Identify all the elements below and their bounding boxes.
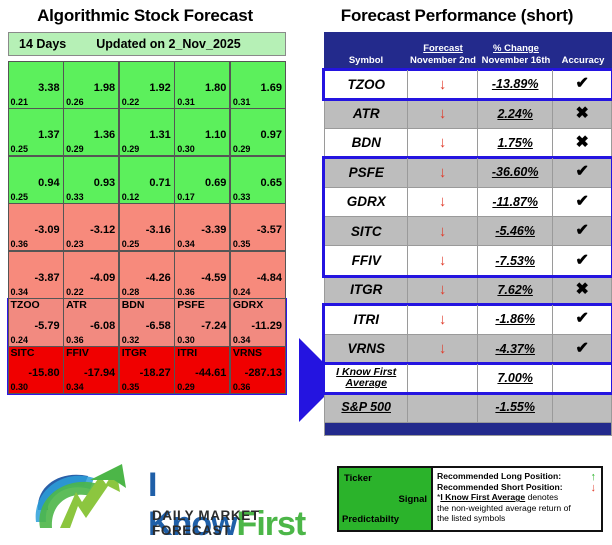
heatmap-cell: 1.690.31 <box>230 61 286 109</box>
cell-accuracy: ✔ <box>553 246 611 274</box>
cell-signal-value: 1.31 <box>149 129 170 141</box>
table-row: PSFE↓-36.60%✔ <box>324 158 612 187</box>
cell-forecast: ↓ <box>408 217 478 245</box>
cell-change: -1.55% <box>478 393 553 421</box>
cell-signal-value: -3.39 <box>201 224 226 236</box>
heatmap-cell: 1.100.30 <box>174 108 230 156</box>
cell-signal-value: 3.38 <box>38 82 59 94</box>
heatmap-cell-itri: ITRI-44.610.29 <box>174 346 230 394</box>
cell-predictability-value: 0.23 <box>66 239 84 250</box>
cell-ticker-label: VRNS <box>233 347 262 359</box>
cell-signal-value: -4.59 <box>201 272 226 284</box>
cell-symbol: VRNS <box>325 335 408 363</box>
cell-ticker-label: PSFE <box>177 299 204 311</box>
column-header-symbol: Symbol <box>324 32 408 70</box>
legend-note-line2: the non-weighted average return of <box>437 503 597 514</box>
cell-signal-value: 0.94 <box>38 177 59 189</box>
cell-predictability-value: 0.30 <box>177 144 195 155</box>
highlight-group: I Know FirstAverage7.00% <box>324 364 612 393</box>
table-row: SITC↓-5.46%✔ <box>324 217 612 246</box>
cell-signal-value: -3.87 <box>35 272 60 284</box>
cell-signal-value: 1.69 <box>261 82 282 94</box>
cell-signal-value: -3.57 <box>257 224 282 236</box>
legend-label-signal: Signal <box>398 494 427 505</box>
cell-signal-value: 0.65 <box>261 177 282 189</box>
table-row: ITRI↓-1.86%✔ <box>324 305 612 334</box>
legend-label-predictability: Predictabilty <box>342 514 399 525</box>
heatmap-cell: -3.120.23 <box>63 203 119 251</box>
table-row: ATR↓2.24%✖ <box>324 99 612 128</box>
heatmap-cell: 1.370.25 <box>8 108 64 156</box>
cell-forecast: ↓ <box>408 276 478 304</box>
cell-symbol: TZOO <box>325 70 408 98</box>
change-value: -11.87% <box>492 195 538 209</box>
cell-signal-value: -4.09 <box>90 272 115 284</box>
legend-long-position: Recommended Long Position: <box>437 471 597 482</box>
cell-change: 7.00% <box>478 364 553 392</box>
iknowfirst-logo: I KnowFirst DAILY MARKET FORECAST <box>30 462 300 540</box>
cell-forecast: ↓ <box>408 246 478 274</box>
symbol-label: ITRI <box>353 312 379 327</box>
heatmap-cell: -4.090.22 <box>63 251 119 299</box>
change-value: 7.00% <box>497 371 532 385</box>
cell-signal-value: -3.12 <box>90 224 115 236</box>
cell-change: 2.24% <box>478 99 553 127</box>
cell-predictability-value: 0.28 <box>122 287 140 298</box>
symbol-label: PSFE <box>349 165 384 180</box>
heatmap-cell-bdn: BDN-6.580.32 <box>119 298 175 346</box>
accuracy-cross-icon: ✖ <box>576 135 589 151</box>
cell-accuracy <box>553 364 611 392</box>
cell-signal-value: 1.92 <box>149 82 170 94</box>
cell-accuracy: ✔ <box>553 217 611 245</box>
cell-forecast: ↓ <box>408 335 478 363</box>
cell-signal-value: 0.69 <box>205 177 226 189</box>
cell-predictability-value: 0.35 <box>122 382 140 393</box>
cell-signal-value: 1.36 <box>94 129 115 141</box>
forecast-down-arrow-icon: ↓ <box>439 224 447 239</box>
cell-ticker-label: TZOO <box>11 299 40 311</box>
heatmap-row: SITC-15.800.30FFIV-17.940.34ITGR-18.270.… <box>8 347 286 395</box>
cell-signal-value: 1.10 <box>205 129 226 141</box>
cell-symbol: SITC <box>325 217 408 245</box>
cell-signal-value: -4.84 <box>257 272 282 284</box>
legend-note-term: I Know First Average <box>440 492 525 502</box>
change-value: 7.62% <box>497 283 532 297</box>
cell-predictability-value: 0.22 <box>122 97 140 108</box>
cell-ticker-label: BDN <box>122 299 145 311</box>
cell-predictability-value: 0.29 <box>66 144 84 155</box>
heatmap-cell: 0.970.29 <box>230 108 286 156</box>
heatmap-cell: -3.090.36 <box>8 203 64 251</box>
heatmap-cell-psfe: PSFE-7.240.30 <box>174 298 230 346</box>
heatmap-cell: -4.840.24 <box>230 251 286 299</box>
cell-signal-value: 1.37 <box>38 129 59 141</box>
heatmap-cell: 0.690.17 <box>174 156 230 204</box>
cell-accuracy: ✔ <box>553 335 611 363</box>
forecast-down-arrow-icon: ↓ <box>439 165 447 180</box>
table-row: S&P 500-1.55% <box>324 393 612 422</box>
table-row: BDN↓1.75%✖ <box>324 129 612 158</box>
symbol-label: S&P 500 <box>341 400 391 414</box>
cell-signal-value: -3.16 <box>146 224 171 236</box>
cell-predictability-value: 0.34 <box>11 287 29 298</box>
logo-tagline: DAILY MARKET FORECAST <box>152 508 300 538</box>
cell-predictability-value: 0.35 <box>233 239 251 250</box>
legend-down-arrow-icon: ↓ <box>591 482 597 494</box>
cell-predictability-value: 0.30 <box>11 382 29 393</box>
logo-swoosh-icon <box>30 462 150 534</box>
cell-forecast <box>408 393 478 421</box>
heatmap-cell: -4.260.28 <box>119 251 175 299</box>
legend-note-line3: the listed symbols <box>437 513 597 524</box>
cell-symbol: ITRI <box>325 305 408 333</box>
cell-predictability-value: 0.34 <box>233 335 251 346</box>
cell-symbol: ATR <box>325 99 408 127</box>
legend-box: Ticker Signal Predictabilty Recommended … <box>337 466 603 532</box>
symbol-label: ATR <box>353 106 380 121</box>
cell-predictability-value: 0.24 <box>233 287 251 298</box>
change-value: -1.86% <box>495 312 535 326</box>
accuracy-check-icon: ✔ <box>576 194 589 210</box>
cell-predictability-value: 0.33 <box>233 192 251 203</box>
forecast-heatmap-grid: 3.380.211.980.261.920.221.800.311.690.31… <box>8 61 286 442</box>
change-value: -5.46% <box>495 224 535 238</box>
cell-predictability-value: 0.21 <box>11 97 29 108</box>
change-value: -36.60% <box>492 165 539 179</box>
heatmap-row: -3.090.36-3.120.23-3.160.25-3.390.34-3.5… <box>8 204 286 252</box>
cell-symbol: BDN <box>325 129 408 157</box>
page-title-left: Algorithmic Stock Forecast <box>0 6 290 26</box>
legend-text-block: Recommended Long Position: Recommended S… <box>433 468 601 530</box>
accuracy-check-icon: ✔ <box>576 76 589 92</box>
heatmap-cell-ffiv: FFIV-17.940.34 <box>63 346 119 394</box>
forecast-performance-panel: Forecast Performance (short) Symbol Fore… <box>312 0 612 450</box>
cell-change: -7.53% <box>478 246 553 274</box>
cell-symbol: ITGR <box>325 276 408 304</box>
table-header-row: Symbol Forecast November 2nd % Change No… <box>324 32 612 70</box>
change-value: 1.75% <box>497 136 532 150</box>
forecast-down-arrow-icon: ↓ <box>439 253 447 268</box>
cell-predictability-value: 0.32 <box>122 335 140 346</box>
cell-signal-value: 0.93 <box>94 177 115 189</box>
cell-signal-value: -18.27 <box>140 367 171 379</box>
table-row: ITGR↓7.62%✖ <box>324 276 612 305</box>
cell-predictability-value: 0.33 <box>66 192 84 203</box>
cell-accuracy: ✔ <box>553 158 611 186</box>
performance-table: Symbol Forecast November 2nd % Change No… <box>324 32 612 436</box>
accuracy-check-icon: ✔ <box>576 253 589 269</box>
cell-ticker-label: FFIV <box>66 347 89 359</box>
symbol-label: VRNS <box>347 341 385 356</box>
cell-predictability-value: 0.29 <box>177 382 195 393</box>
change-value: -13.89% <box>492 77 539 91</box>
cell-predictability-value: 0.36 <box>233 382 251 393</box>
heatmap-cell: -3.870.34 <box>8 251 64 299</box>
cell-signal-value: 0.97 <box>261 129 282 141</box>
table-footer-bar <box>324 423 612 436</box>
cell-predictability-value: 0.29 <box>122 144 140 155</box>
cell-predictability-value: 0.31 <box>177 97 195 108</box>
cell-forecast: ↓ <box>408 129 478 157</box>
table-row: TZOO↓-13.89%✔ <box>324 70 612 99</box>
cell-signal-value: -3.09 <box>35 224 60 236</box>
cell-ticker-label: SITC <box>11 347 35 359</box>
cell-change: -5.46% <box>478 217 553 245</box>
cell-change: 7.62% <box>478 276 553 304</box>
cell-signal-value: -4.26 <box>146 272 171 284</box>
cell-signal-value: 0.71 <box>149 177 170 189</box>
cell-forecast: ↓ <box>408 70 478 98</box>
cell-ticker-label: ATR <box>66 299 87 311</box>
cell-predictability-value: 0.12 <box>122 192 140 203</box>
cell-forecast <box>408 364 478 392</box>
cell-accuracy: ✖ <box>553 276 611 304</box>
change-value: -7.53% <box>495 254 535 268</box>
table-row: VRNS↓-4.37%✔ <box>324 335 612 364</box>
cell-predictability-value: 0.25 <box>11 192 29 203</box>
heatmap-cell: 0.940.25 <box>8 156 64 204</box>
cell-symbol: GDRX <box>325 188 408 216</box>
symbol-label: SITC <box>351 224 382 239</box>
heatmap-row: 1.370.251.360.291.310.291.100.300.970.29 <box>8 109 286 157</box>
accuracy-check-icon: ✔ <box>576 341 589 357</box>
cell-signal-value: -11.29 <box>251 320 282 332</box>
cell-predictability-value: 0.26 <box>66 97 84 108</box>
cell-predictability-value: 0.25 <box>122 239 140 250</box>
forecast-report-page: Algorithmic Stock Forecast 14 Days Updat… <box>0 0 612 545</box>
page-title-right: Forecast Performance (short) <box>312 6 602 26</box>
heatmap-row: -3.870.34-4.090.22-4.260.28-4.590.36-4.8… <box>8 251 286 299</box>
cell-predictability-value: 0.30 <box>177 335 195 346</box>
cell-forecast: ↓ <box>408 99 478 127</box>
heatmap-cell: -3.160.25 <box>119 203 175 251</box>
heatmap-cell: -4.590.36 <box>174 251 230 299</box>
cell-accuracy: ✔ <box>553 70 611 98</box>
cell-signal-value: -17.94 <box>84 367 115 379</box>
heatmap-cell: -3.390.34 <box>174 203 230 251</box>
forecast-down-arrow-icon: ↓ <box>439 341 447 356</box>
cell-symbol: I Know FirstAverage <box>325 364 408 392</box>
cell-forecast: ↓ <box>408 188 478 216</box>
cell-predictability-value: 0.36 <box>66 335 84 346</box>
legend-short-position: Recommended Short Position: <box>437 482 597 493</box>
cell-symbol: S&P 500 <box>325 393 408 421</box>
change-value: 2.24% <box>497 107 532 121</box>
accuracy-cross-icon: ✖ <box>576 106 589 122</box>
cell-change: -11.87% <box>478 188 553 216</box>
cell-signal-value: -7.24 <box>201 320 226 332</box>
accuracy-check-icon: ✔ <box>576 311 589 327</box>
cell-predictability-value: 0.29 <box>233 144 251 155</box>
heatmap-cell: 0.650.33 <box>230 156 286 204</box>
cell-predictability-value: 0.24 <box>11 335 29 346</box>
column-header-accuracy: Accuracy <box>554 32 612 70</box>
forecast-down-arrow-icon: ↓ <box>439 282 447 297</box>
cell-symbol: FFIV <box>325 246 408 274</box>
cell-predictability-value: 0.17 <box>177 192 195 203</box>
cell-signal-value: -287.13 <box>245 367 282 379</box>
cell-predictability-value: 0.34 <box>177 239 195 250</box>
table-row: I Know FirstAverage7.00% <box>324 364 612 393</box>
cell-accuracy: ✖ <box>553 99 611 127</box>
forecast-down-arrow-icon: ↓ <box>439 135 447 150</box>
change-value: -1.55% <box>495 400 535 414</box>
cell-symbol: PSFE <box>325 158 408 186</box>
forecast-header-bar: 14 Days Updated on 2_Nov_2025 <box>8 32 286 56</box>
highlight-group: ITRI↓-1.86%✔VRNS↓-4.37%✔ <box>324 305 612 364</box>
cell-accuracy: ✖ <box>553 129 611 157</box>
cell-accuracy: ✔ <box>553 188 611 216</box>
heatmap-cell: 3.380.21 <box>8 61 64 109</box>
heatmap-cell: 1.310.29 <box>119 108 175 156</box>
heatmap-cell: 1.980.26 <box>63 61 119 109</box>
cell-predictability-value: 0.36 <box>11 239 29 250</box>
cell-ticker-label: ITGR <box>122 347 147 359</box>
heatmap-row: TZOO-5.790.24ATR-6.080.36BDN-6.580.32PSF… <box>8 299 286 347</box>
forecast-down-arrow-icon: ↓ <box>439 106 447 121</box>
cell-accuracy: ✔ <box>553 305 611 333</box>
change-value: -4.37% <box>495 342 535 356</box>
heatmap-cell: 1.800.31 <box>174 61 230 109</box>
forecast-horizon-label: 14 Days <box>9 37 66 51</box>
accuracy-check-icon: ✔ <box>576 164 589 180</box>
cell-predictability-value: 0.25 <box>11 144 29 155</box>
cell-predictability-value: 0.31 <box>233 97 251 108</box>
cell-signal-value: -5.79 <box>35 320 60 332</box>
symbol-label: I Know FirstAverage <box>336 367 396 390</box>
cell-signal-value: -6.58 <box>146 320 171 332</box>
heatmap-cell: 0.710.12 <box>119 156 175 204</box>
cell-forecast: ↓ <box>408 305 478 333</box>
heatmap-cell-vrns: VRNS-287.130.36 <box>230 346 286 394</box>
accuracy-check-icon: ✔ <box>576 223 589 239</box>
heatmap-cell-gdrx: GDRX-11.290.34 <box>230 298 286 346</box>
heatmap-row: 3.380.211.980.261.920.221.800.311.690.31 <box>8 61 286 109</box>
symbol-label: BDN <box>352 135 381 150</box>
cell-accuracy <box>553 393 611 421</box>
symbol-label: FFIV <box>352 253 381 268</box>
cell-signal-value: -6.08 <box>90 320 115 332</box>
forecast-down-arrow-icon: ↓ <box>439 77 447 92</box>
cell-predictability-value: 0.22 <box>66 287 84 298</box>
symbol-label: TZOO <box>347 77 385 92</box>
cell-ticker-label: GDRX <box>233 299 263 311</box>
legend-cell-diagram: Ticker Signal Predictabilty <box>339 468 433 530</box>
column-header-change: % Change November 16th <box>478 32 554 70</box>
symbol-label: ITGR <box>350 282 382 297</box>
table-row: FFIV↓-7.53%✔ <box>324 246 612 275</box>
heatmap-cell-sitc: SITC-15.800.30 <box>8 346 64 394</box>
cell-forecast: ↓ <box>408 158 478 186</box>
cell-signal-value: -15.80 <box>28 367 59 379</box>
heatmap-row: 0.940.250.930.330.710.120.690.170.650.33 <box>8 156 286 204</box>
legend-label-ticker: Ticker <box>344 473 372 484</box>
forecast-updated-label: Updated on 2_Nov_2025 <box>66 37 241 51</box>
forecast-down-arrow-icon: ↓ <box>439 312 447 327</box>
heatmap-cell-tzoo: TZOO-5.790.24 <box>8 298 64 346</box>
heatmap-cell: 0.930.33 <box>63 156 119 204</box>
cell-change: -36.60% <box>478 158 553 186</box>
accuracy-cross-icon: ✖ <box>576 282 589 298</box>
cell-change: -4.37% <box>478 335 553 363</box>
cell-change: -13.89% <box>478 70 553 98</box>
cell-signal-value: 1.98 <box>94 82 115 94</box>
heatmap-cell-atr: ATR-6.080.36 <box>63 298 119 346</box>
legend-note-line1: *I Know First Average denotes <box>437 492 597 503</box>
column-header-forecast: Forecast November 2nd <box>408 32 478 70</box>
cell-predictability-value: 0.34 <box>66 382 84 393</box>
heatmap-cell-itgr: ITGR-18.270.35 <box>119 346 175 394</box>
table-row: GDRX↓-11.87%✔ <box>324 188 612 217</box>
cell-ticker-label: ITRI <box>177 347 197 359</box>
forecast-down-arrow-icon: ↓ <box>439 194 447 209</box>
cell-change: 1.75% <box>478 129 553 157</box>
heatmap-cell: 1.360.29 <box>63 108 119 156</box>
algorithmic-forecast-panel: Algorithmic Stock Forecast 14 Days Updat… <box>0 0 300 450</box>
table-body: TZOO↓-13.89%✔ATR↓2.24%✖BDN↓1.75%✖PSFE↓-3… <box>324 70 612 423</box>
cell-predictability-value: 0.36 <box>177 287 195 298</box>
highlight-group: TZOO↓-13.89%✔ <box>324 70 612 99</box>
heatmap-cell: 1.920.22 <box>119 61 175 109</box>
cell-change: -1.86% <box>478 305 553 333</box>
cell-signal-value: -44.61 <box>195 367 226 379</box>
highlight-group: PSFE↓-36.60%✔GDRX↓-11.87%✔SITC↓-5.46%✔FF… <box>324 158 612 276</box>
symbol-label: GDRX <box>347 194 386 209</box>
heatmap-cell: -3.570.35 <box>230 203 286 251</box>
cell-signal-value: 1.80 <box>205 82 226 94</box>
